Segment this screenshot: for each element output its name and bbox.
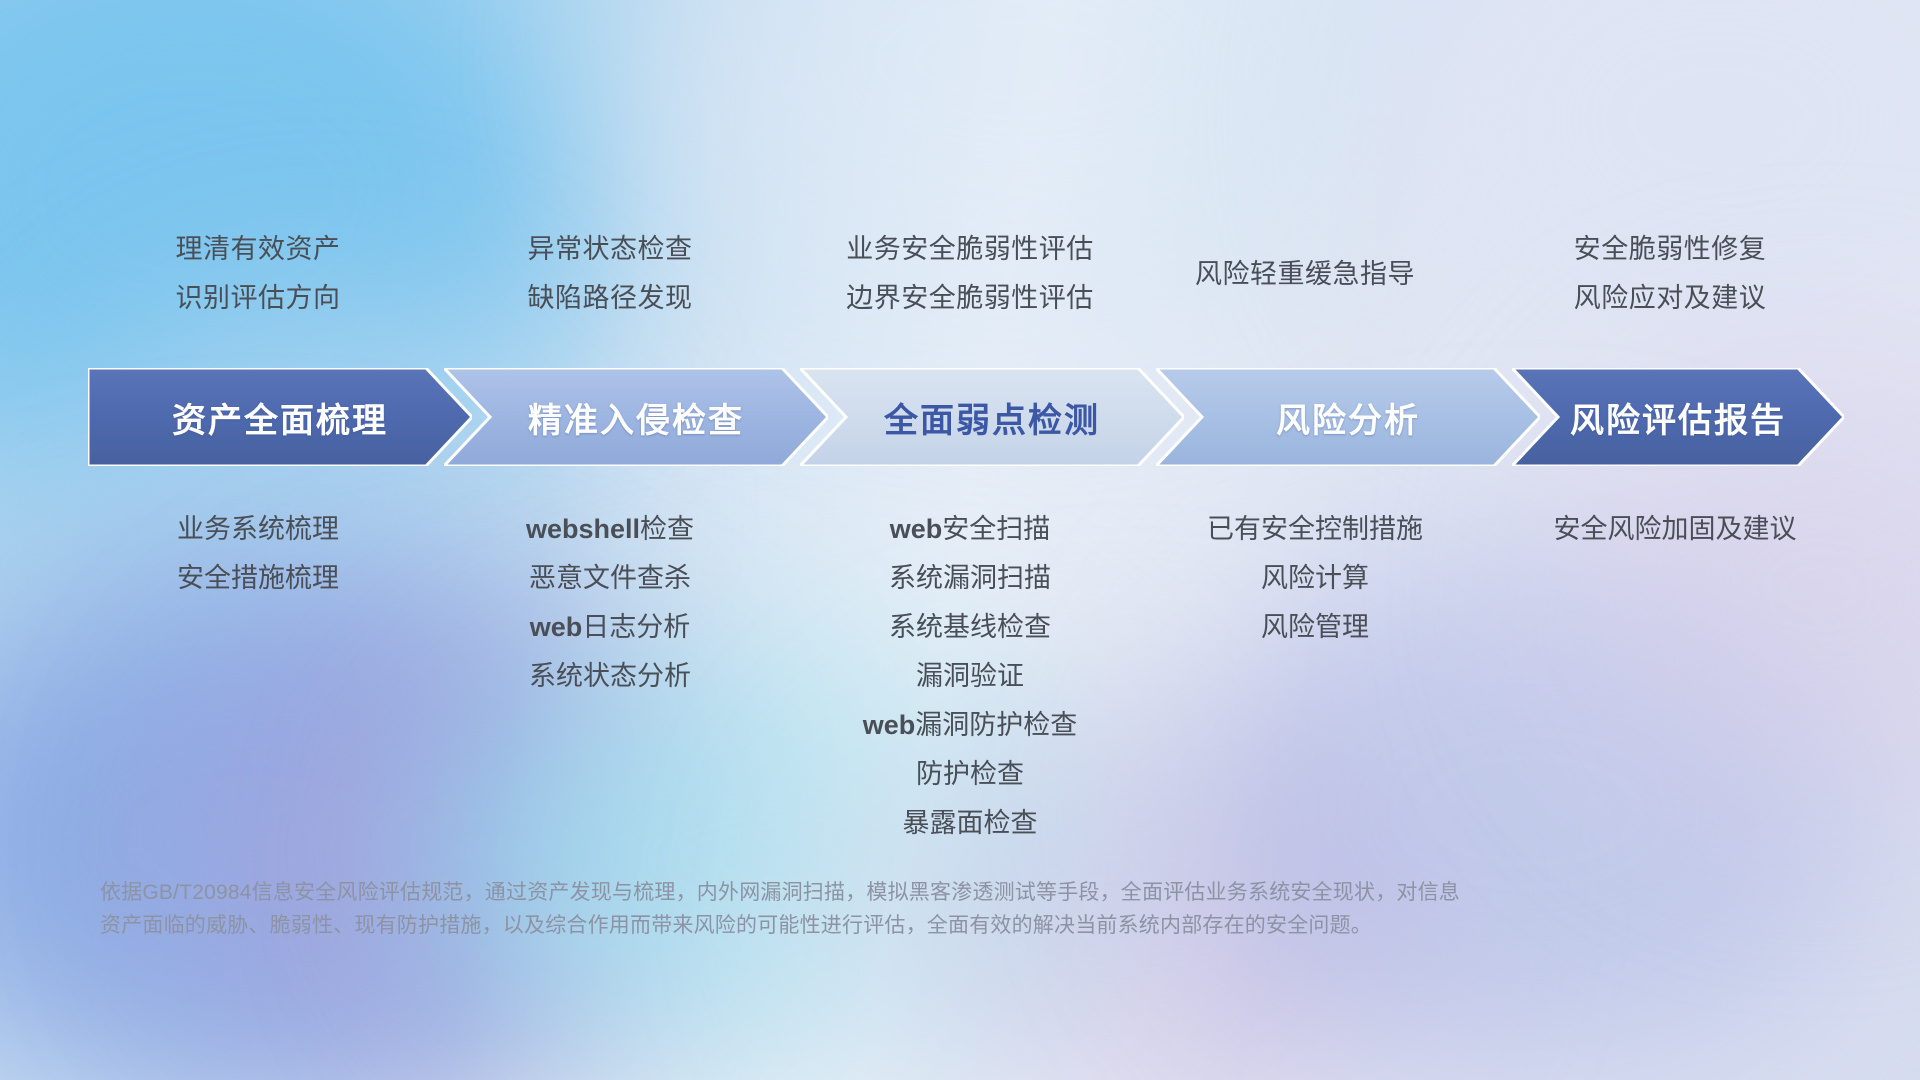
footer-line-1: 依据GB/T20984信息安全风险评估规范，通过资产发现与梳理，内外网漏洞扫描，… [100, 876, 1820, 909]
list-item: 业务系统梳理 [88, 505, 428, 554]
stage-top-label: 边界安全脆弱性评估 [775, 274, 1165, 323]
process-chevron-band: 资产全面梳理 精准入侵检查 [88, 368, 1844, 466]
chevron-stage-5[interactable]: 风险评估报告 [1512, 368, 1844, 466]
stage-top-label: 识别评估方向 [88, 274, 428, 323]
chevron-label: 全面弱点检测 [884, 393, 1100, 442]
list-item-emphasis: web [890, 514, 943, 544]
list-item: 系统漏洞扫描 [790, 554, 1150, 603]
stage-bottom-list-3: web安全扫描 系统漏洞扫描 系统基线检查 漏洞验证 web漏洞防护检查 防护检… [790, 505, 1150, 848]
list-item: 暴露面检查 [790, 799, 1150, 848]
footer-description: 依据GB/T20984信息安全风险评估规范，通过资产发现与梳理，内外网漏洞扫描，… [100, 876, 1820, 942]
stage-bottom-list-4: 已有安全控制措施 风险计算 风险管理 [1135, 505, 1495, 652]
stage-bottom-list-2: webshell检查 恶意文件查杀 web日志分析 系统状态分析 [440, 505, 780, 701]
list-item: webshell检查 [440, 505, 780, 554]
list-item: 漏洞验证 [790, 652, 1150, 701]
list-item: web漏洞防护检查 [790, 701, 1150, 750]
stage-top-labels-1: 理清有效资产 识别评估方向 [88, 225, 428, 323]
list-item-emphasis: web [863, 710, 916, 740]
list-item-emphasis: webshell [526, 514, 640, 544]
stage-bottom-list-5: 安全风险加固及建议 [1490, 505, 1860, 554]
list-item-emphasis: web [530, 612, 583, 642]
list-item: 安全措施梳理 [88, 554, 428, 603]
list-item: 安全风险加固及建议 [1490, 505, 1860, 554]
stage-top-labels-3: 业务安全脆弱性评估 边界安全脆弱性评估 [775, 225, 1165, 323]
stage-top-label: 理清有效资产 [88, 225, 428, 274]
process-diagram: 理清有效资产 识别评估方向 异常状态检查 缺陷路径发现 业务安全脆弱性评估 边界… [0, 0, 1920, 1080]
list-item: 风险管理 [1135, 603, 1495, 652]
list-item: 恶意文件查杀 [440, 554, 780, 603]
chevron-label: 资产全面梳理 [172, 393, 388, 442]
stage-top-labels-4: 风险轻重缓急指导 [1125, 250, 1485, 299]
chevron-label: 风险分析 [1276, 393, 1420, 442]
chevron-label: 精准入侵检查 [528, 393, 744, 442]
stage-top-label: 风险应对及建议 [1490, 274, 1850, 323]
chevron-stage-4[interactable]: 风险分析 [1156, 368, 1540, 466]
chevron-stage-1[interactable]: 资产全面梳理 [88, 368, 472, 466]
list-item: web安全扫描 [790, 505, 1150, 554]
stage-top-label: 缺陷路径发现 [440, 274, 780, 323]
chevron-label: 风险评估报告 [1570, 393, 1786, 442]
stage-top-label: 业务安全脆弱性评估 [775, 225, 1165, 274]
stage-top-labels-5: 安全脆弱性修复 风险应对及建议 [1490, 225, 1850, 323]
chevron-stage-3[interactable]: 全面弱点检测 [800, 368, 1184, 466]
stage-top-label: 异常状态检查 [440, 225, 780, 274]
list-item-rest: 漏洞防护检查 [915, 710, 1077, 740]
list-item: 防护检查 [790, 750, 1150, 799]
list-item: 系统状态分析 [440, 652, 780, 701]
list-item-rest: 安全扫描 [942, 514, 1050, 544]
stage-top-label: 安全脆弱性修复 [1490, 225, 1850, 274]
list-item: 系统基线检查 [790, 603, 1150, 652]
stage-bottom-list-1: 业务系统梳理 安全措施梳理 [88, 505, 428, 603]
list-item: 风险计算 [1135, 554, 1495, 603]
stage-top-label: 风险轻重缓急指导 [1125, 250, 1485, 299]
stage-top-labels-2: 异常状态检查 缺陷路径发现 [440, 225, 780, 323]
list-item-rest: 检查 [640, 514, 694, 544]
list-item: 已有安全控制措施 [1135, 505, 1495, 554]
chevron-stage-2[interactable]: 精准入侵检查 [444, 368, 828, 466]
list-item: web日志分析 [440, 603, 780, 652]
footer-line-2: 资产面临的威胁、脆弱性、现有防护措施，以及综合作用而带来风险的可能性进行评估，全… [100, 909, 1820, 942]
list-item-rest: 日志分析 [582, 612, 690, 642]
